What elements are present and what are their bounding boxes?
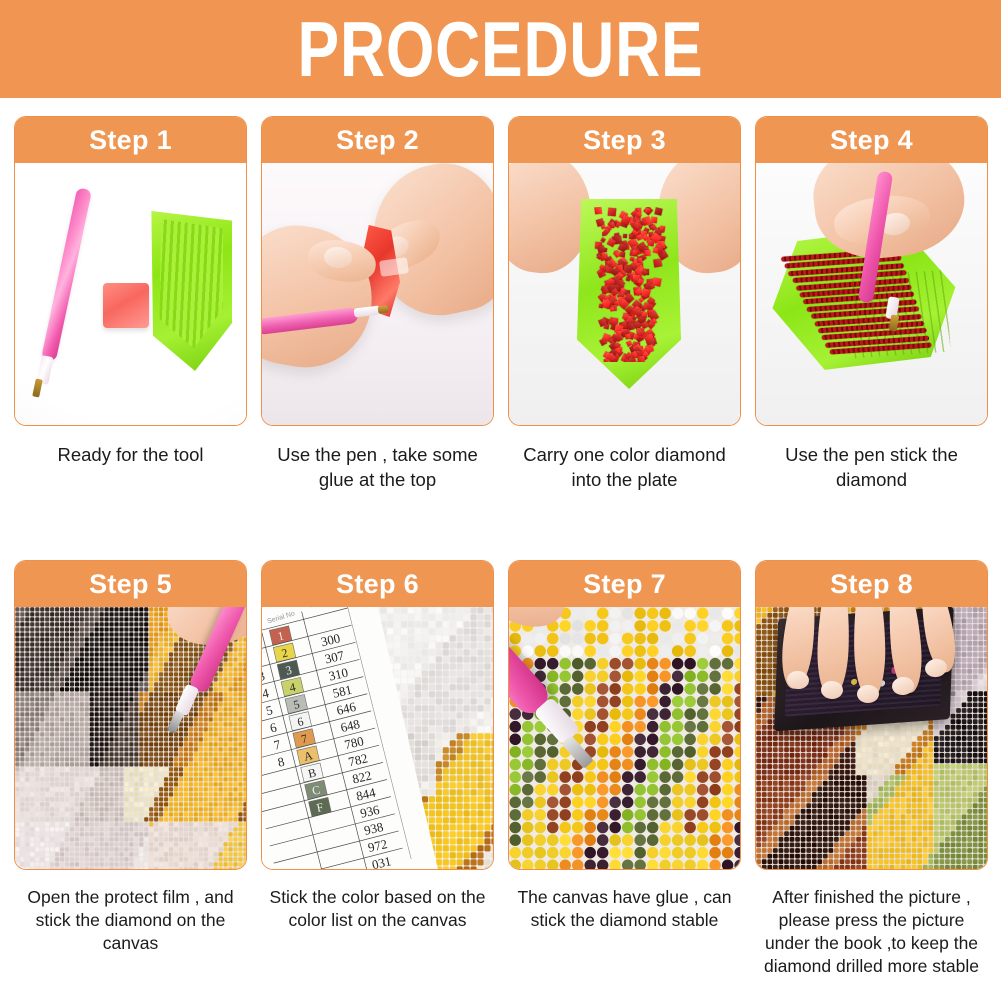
step-card-2: Step 2 [261,116,494,426]
photo-round-diamonds [509,607,740,869]
photo-tray-with-diamonds [509,163,740,425]
pen-tip [32,378,43,397]
step-image-4 [756,163,987,425]
step-image-6: Serial NoSymbolDMC1122300333074431055581… [262,607,493,869]
step-card-5: Step 5 [14,560,247,870]
step-image-8 [756,607,987,869]
photo-pen-picks-diamond [756,163,987,425]
red-diamond-drills [587,207,671,362]
steps-grid: Step 1 Ready for the tool [0,98,1001,1001]
step-badge-4: Step 4 [756,117,987,163]
step-cell-6: Step 6 [261,560,508,932]
step-caption-2: Use the pen , take some glue at the top [261,442,494,492]
color-chart-svg: Serial NoSymbolDMC1122300333074431055581… [262,607,493,869]
step-badge-1: Step 1 [15,117,246,163]
step-caption-1: Ready for the tool [14,442,247,467]
step-cell-7: Step 7 [508,560,755,932]
step-image-5 [15,607,246,869]
page-title: PROCEDURE [100,0,901,98]
photo-dip-glue [262,163,493,425]
photo-press-board [756,607,987,869]
step-caption-3: Carry one color diamond into the plate [508,442,741,492]
step-image-1 [15,163,246,425]
step-cell-4: Step 4 [755,116,1001,492]
step-badge-8: Step 8 [756,561,987,607]
step-caption-8: After finished the picture , please pres… [755,886,988,978]
step-card-3: Step 3 [508,116,741,426]
step-image-7 [509,607,740,869]
pen-tip [378,305,389,313]
step-badge-5: Step 5 [15,561,246,607]
step-image-2 [262,163,493,425]
step-caption-5: Open the protect film , and stick the di… [14,886,247,955]
step-badge-6: Step 6 [262,561,493,607]
diamond-pen [41,187,92,361]
step-card-1: Step 1 [14,116,247,426]
step-card-6: Step 6 [261,560,494,870]
step-card-4: Step 4 [755,116,988,426]
step-image-3 [509,163,740,425]
step-cell-8: Step 8 [755,560,1001,978]
steps-row-bottom: Step 5 [0,560,1001,1000]
photo-sunflower-canvas [15,607,246,869]
step-badge-3: Step 3 [509,117,740,163]
step-badge-7: Step 7 [509,561,740,607]
step-cell-5: Step 5 [14,560,261,955]
step-caption-7: The canvas have glue , can stick the dia… [508,886,741,932]
step-cell-3: Step 3 Carry one color diamond into the … [508,116,755,492]
diamond-rows-closeup [509,607,740,869]
pen-neck [354,305,381,317]
photo-color-chart: Serial NoSymbolDMC1122300333074431055581… [262,607,493,869]
step-badge-2: Step 2 [262,117,493,163]
step-caption-6: Stick the color based on the color list … [261,886,494,932]
glue-square [103,283,149,328]
photo-tools [15,163,246,425]
page-header-banner: PROCEDURE [0,0,1001,98]
step-cell-1: Step 1 Ready for the tool [14,116,261,467]
step-cell-2: Step 2 [261,116,508,492]
step-card-8: Step 8 [755,560,988,870]
step-caption-4: Use the pen stick the diamond [755,442,988,492]
step-card-7: Step 7 [508,560,741,870]
steps-row-top: Step 1 Ready for the tool [0,116,1001,551]
procedure-infographic: PROCEDURE Step 1 [0,0,1001,1001]
